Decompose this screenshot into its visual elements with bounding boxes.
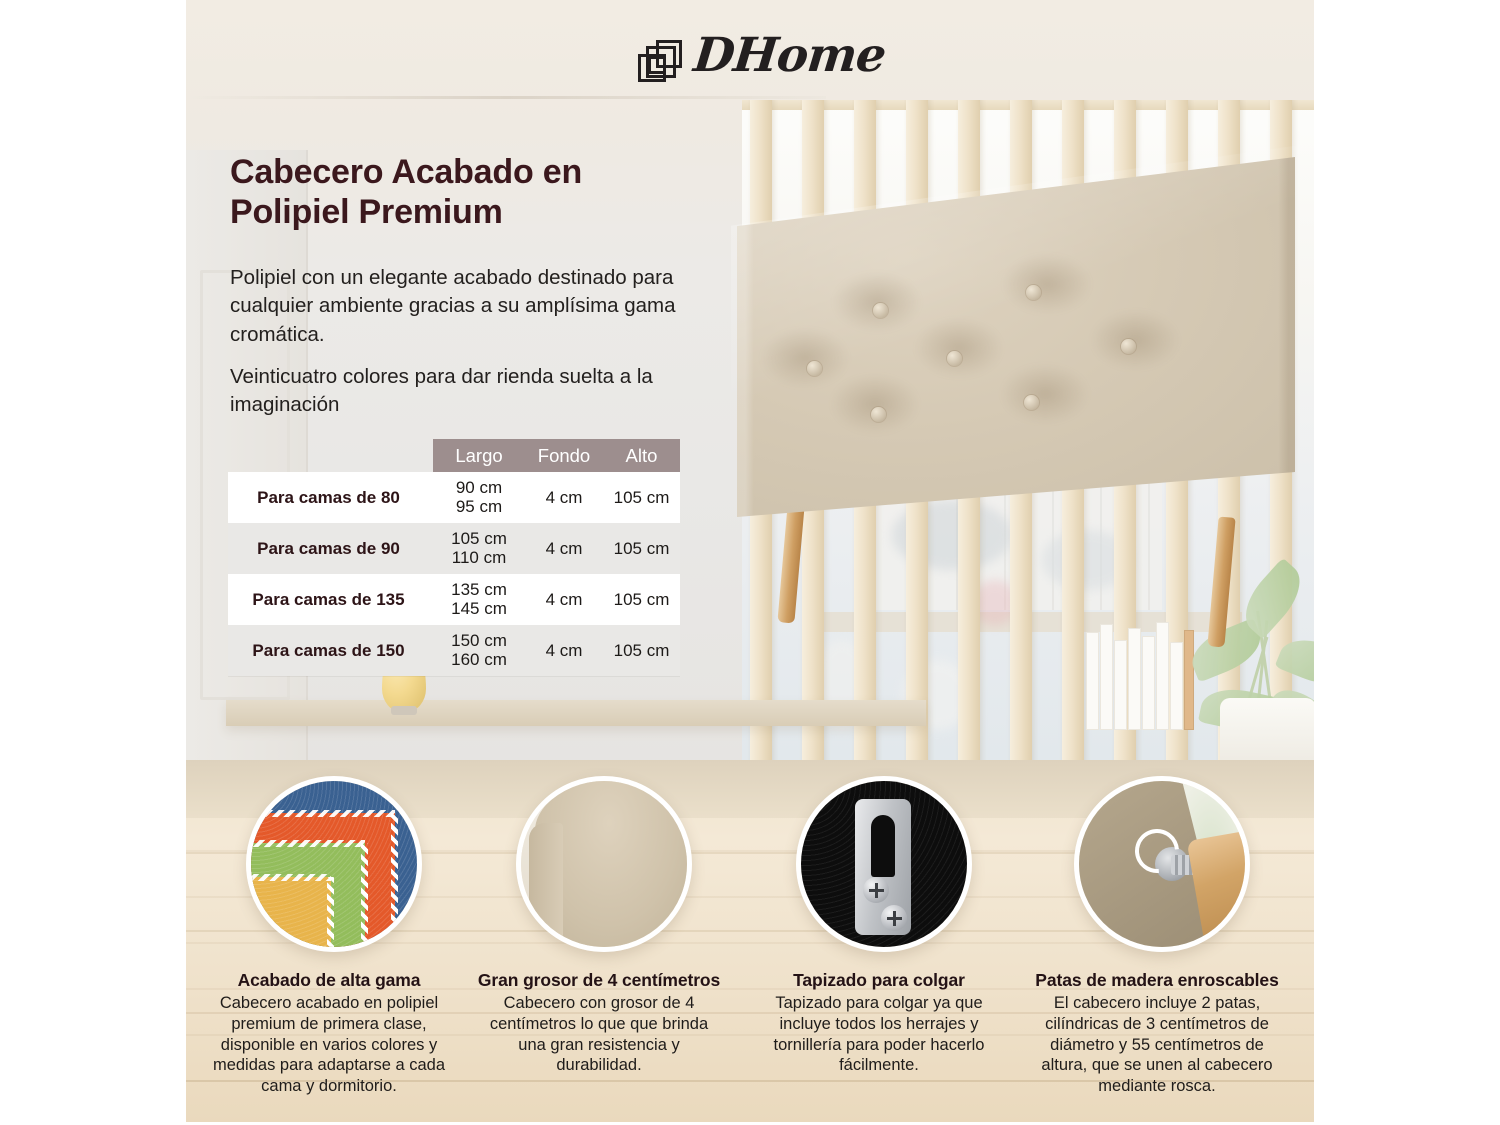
tufting-button [947,351,962,366]
row-label: Para camas de 150 [228,641,433,661]
product-image-plate: DHome Cabecero Acabado en Polipiel Premi… [186,0,1314,1122]
column-header-alto: Alto [603,445,680,467]
leather-thickness-icon [516,776,692,952]
feature-body: Cabecero acabado en polipiel premium de … [204,993,454,1097]
page-title-line2: Polipiel Premium [230,192,700,232]
table-row: Para camas de 80 90 cm 95 cm 4 cm 105 cm [228,472,680,523]
cell-largo-max: 95 cm [433,498,525,516]
screw-icon [863,877,889,903]
tufting-button [807,361,822,376]
feature-body: El cabecero incluye 2 patas, cilíndricas… [1032,993,1282,1097]
cell-largo-min: 135 cm [433,581,525,599]
wall-bracket-icon [796,776,972,952]
cell-largo: 105 cm 110 cm [433,530,525,566]
feature-title: Gran grosor de 4 centímetros [474,970,724,991]
feature-body: Tapizado para colgar ya que incluye todo… [754,993,1004,1076]
table-row: Para camas de 90 105 cm 110 cm 4 cm 105 … [228,523,680,574]
page-title: Cabecero Acabado en Polipiel Premium [230,152,700,232]
tufting-button [1026,285,1041,300]
overlapping-squares-icon [638,40,686,90]
row-label: Para camas de 135 [228,590,433,610]
cell-alto: 105 cm [603,488,680,508]
page-title-line1: Cabecero Acabado en [230,152,700,192]
cell-largo-min: 90 cm [433,479,525,497]
cell-largo-max: 145 cm [433,600,525,618]
cell-fondo: 4 cm [525,539,603,559]
wall-seam [186,96,826,99]
cell-largo: 90 cm 95 cm [433,479,525,515]
feature-caption-3: Tapizado para colgar Tapizado para colga… [754,970,1004,1076]
row-label: Para camas de 80 [228,488,433,508]
screw-icon [881,905,907,931]
cell-alto: 105 cm [603,590,680,610]
background-shelf [226,700,926,726]
feature-title: Patas de madera enroscables [1032,970,1282,991]
poster-canvas: DHome Cabecero Acabado en Polipiel Premi… [0,0,1500,1125]
row-label: Para camas de 90 [228,539,433,559]
tufting-button [1024,395,1039,410]
table-row: Para camas de 150 150 cm 160 cm 4 cm 105… [228,625,680,676]
column-header-largo: Largo [433,445,525,467]
tufting-button [871,407,886,422]
screw-in-wooden-leg-icon [1074,776,1250,952]
intro-paragraph-2: Veinticuatro colores para dar rienda sue… [230,363,690,420]
feature-title: Tapizado para colgar [754,970,1004,991]
brand-name: DHome [691,28,888,83]
tufting-button [873,303,888,318]
feature-caption-1: Acabado de alta gama Cabecero acabado en… [204,970,454,1097]
tufting-button [1121,339,1136,354]
intro-text: Polipiel con un elegante acabado destina… [230,264,690,433]
wall-molding-panel [186,150,308,770]
column-header-fondo: Fondo [525,445,603,467]
table-header-row: Largo Fondo Alto [433,439,680,472]
cell-alto: 105 cm [603,641,680,661]
cell-largo: 135 cm 145 cm [433,581,525,617]
fabric-swatches-icon [246,776,422,952]
cell-largo-max: 110 cm [433,549,525,567]
cell-largo-min: 150 cm [433,632,525,650]
cell-fondo: 4 cm [525,590,603,610]
intro-paragraph-1: Polipiel con un elegante acabado destina… [230,264,690,349]
feature-caption-2: Gran grosor de 4 centímetros Cabecero co… [474,970,724,1076]
cell-largo: 150 cm 160 cm [433,632,525,668]
table-row: Para camas de 135 135 cm 145 cm 4 cm 105… [228,574,680,625]
cell-largo-max: 160 cm [433,651,525,669]
brand-logo: DHome [638,32,878,94]
cell-fondo: 4 cm [525,641,603,661]
feature-caption-4: Patas de madera enroscables El cabecero … [1032,970,1282,1097]
headboard-photo [731,145,1301,565]
feature-body: Cabecero con grosor de 4 centímetros lo … [474,993,724,1076]
cell-largo-min: 105 cm [433,530,525,548]
cell-alto: 105 cm [603,539,680,559]
cell-fondo: 4 cm [525,488,603,508]
feature-title: Acabado de alta gama [204,970,454,991]
